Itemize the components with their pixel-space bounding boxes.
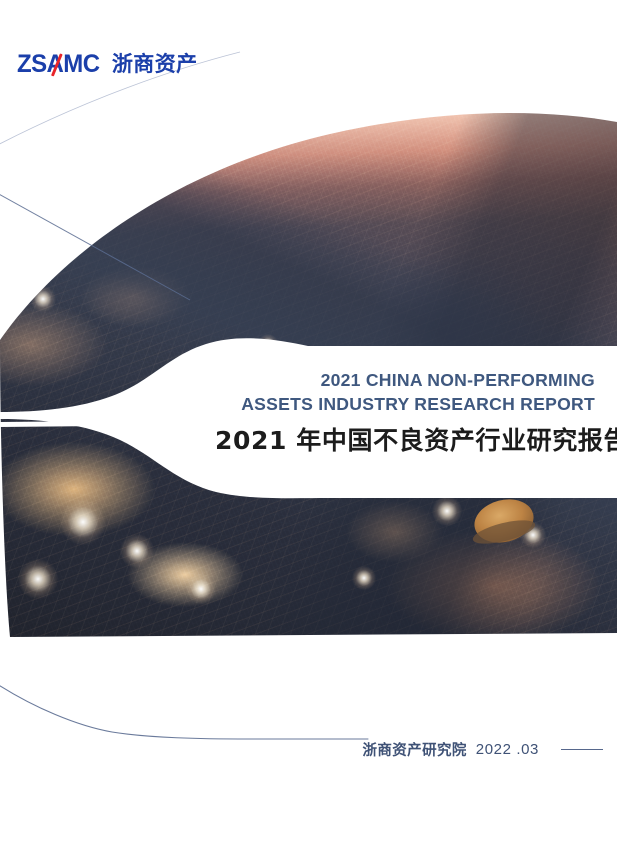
footer-swoosh-line [0,660,617,790]
report-cover-page: ZSAMC 浙商资产 [0,0,617,867]
cover-title-block: 2021 CHINA NON-PERFORMING ASSETS INDUSTR… [215,368,595,456]
logo-wordmark: ZSAMC [17,52,99,77]
footer-right-dash-icon [561,749,603,750]
footer-bar: 浙商资产研究院 2022 .03 [0,737,617,761]
footer-institute: 浙商资产研究院 [362,739,466,760]
company-logo: ZSAMC 浙商资产 [17,52,198,77]
title-chinese: 2021 年中国不良资产行业研究报告 [215,426,595,456]
footer-date: 2022 .03 [476,741,539,758]
title-english-line-2: ASSETS INDUSTRY RESEARCH REPORT [215,392,595,416]
logo-chinese-name: 浙商资产 [112,54,198,75]
title-english-line-1: 2021 CHINA NON-PERFORMING [215,368,595,392]
